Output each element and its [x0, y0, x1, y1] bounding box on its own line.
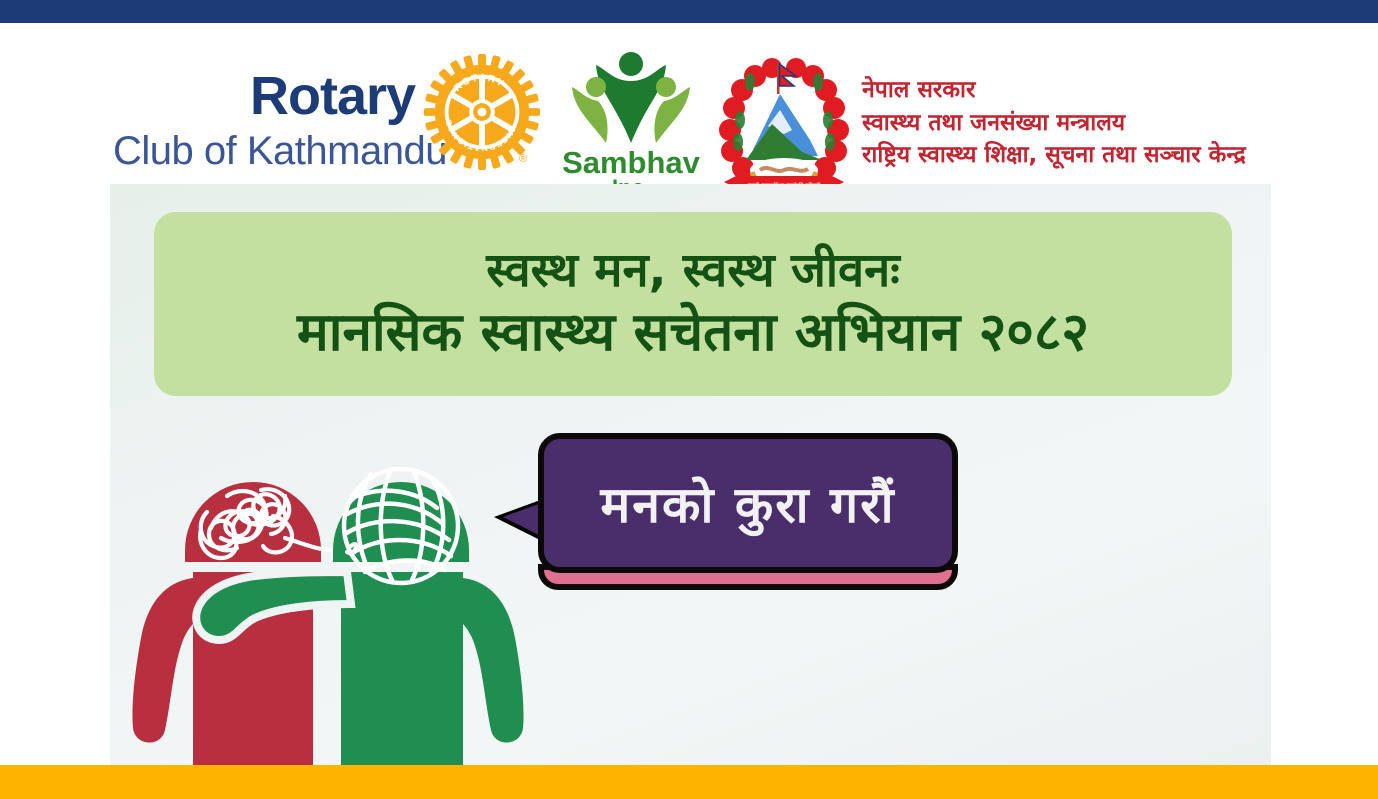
government-line-3: राष्ट्रिय स्वास्थ्य शिक्षा, सूचना तथा सञ…	[862, 139, 1292, 172]
main-content-panel: स्वस्थ मन, स्वस्थ जीवनः मानसिक स्वास्थ्य…	[110, 184, 1271, 765]
slide-stage: Rotary Club of Kathmandu	[0, 0, 1378, 799]
campaign-title-line-2: मानसिक स्वास्थ्य सचेतना अभियान २०८२	[297, 302, 1089, 365]
speech-bubble-group: मनको कुरा गरौं	[494, 433, 964, 593]
campaign-title-banner: स्वस्थ मन, स्वस्थ जीवनः मानसिक स्वास्थ्य…	[154, 212, 1232, 396]
nepal-emblem-icon: जननी जन्मभूमिश्च स्वर्गादपि गरीयसी	[710, 48, 858, 203]
speech-bubble-text: मनको कुरा गरौं	[600, 469, 895, 537]
sambhav-logo-lockup: Sambhav Inc.	[556, 51, 706, 206]
government-line-2: स्वास्थ्य तथा जनसंख्या मन्त्रालय	[862, 107, 1292, 140]
government-text-block: नेपाल सरकार स्वास्थ्य तथा जनसंख्या मन्त्…	[862, 74, 1292, 172]
rotary-wordmark: Rotary	[250, 65, 415, 127]
government-logo-lockup: जननी जन्मभूमिश्च स्वर्गादपि गरीयसी नेपाल…	[710, 48, 1290, 206]
bottom-accent-bar	[0, 765, 1378, 799]
campaign-title-line-1: स्वस्थ मन, स्वस्थ जीवनः	[486, 243, 899, 298]
logo-header-strip: Rotary Club of Kathmandu	[0, 23, 1378, 184]
rotary-club-subtitle: Club of Kathmandu	[113, 129, 447, 174]
sambhav-people-icon	[566, 51, 696, 146]
speech-bubble: मनको कुरा गरौं	[538, 433, 958, 573]
top-accent-bar	[0, 0, 1378, 23]
registered-trademark-icon: ®	[519, 153, 527, 165]
government-line-1: नेपाल सरकार	[862, 74, 1292, 107]
two-people-illustration	[115, 420, 545, 765]
sambhav-name: Sambhav	[556, 148, 706, 177]
rotary-logo-lockup: Rotary Club of Kathmandu	[113, 61, 533, 191]
